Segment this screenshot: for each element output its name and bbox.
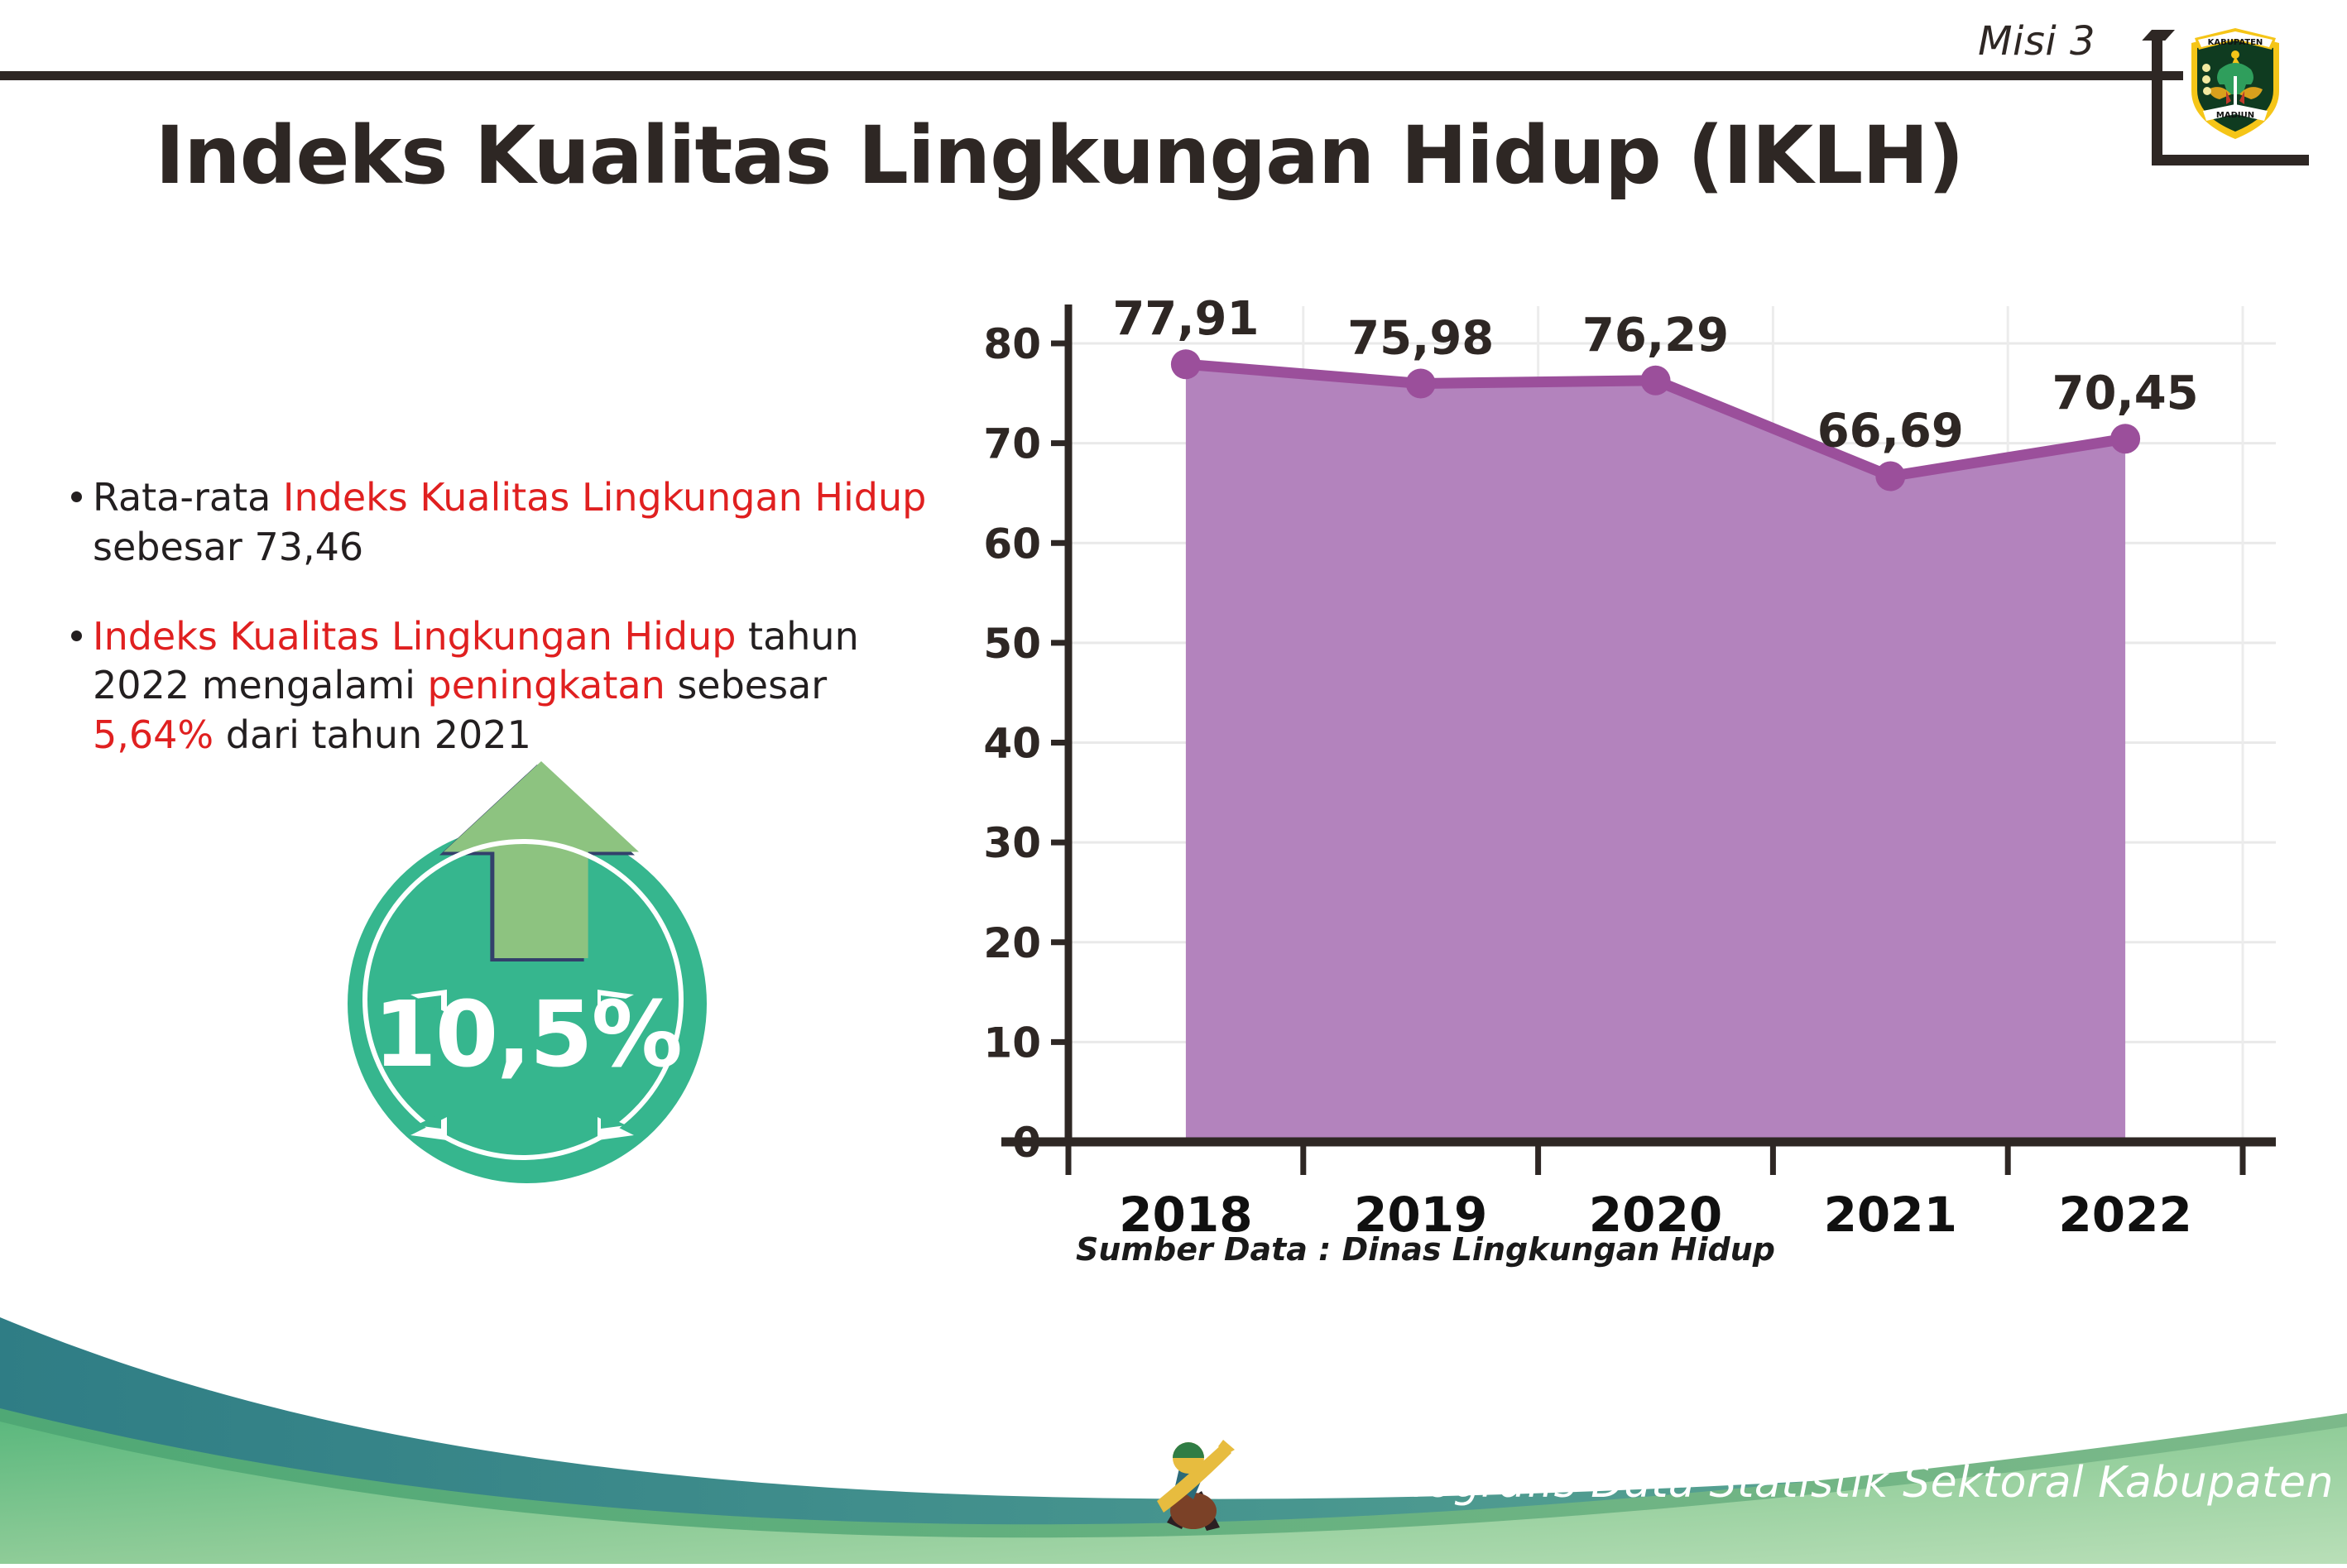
bullet-1-highlight: Indeks Kualitas Lingkungan Hidup: [283, 475, 926, 520]
data-point-label: 66,69: [1817, 405, 1964, 458]
bullet-dot-icon: [71, 631, 82, 641]
bullet-2-highlight-3: 5,64%: [93, 712, 214, 757]
data-point-label: 75,98: [1347, 311, 1494, 365]
y-axis-tick-label: 30: [983, 819, 1041, 867]
bullet-2-part-6: dari tahun 2021: [214, 712, 531, 757]
bullet-2-part-4: sebesar: [665, 663, 827, 707]
data-point-label: 77,91: [1112, 298, 1259, 346]
y-axis-tick-label: 70: [983, 420, 1041, 468]
x-axis-tick-label: 2022: [2058, 1187, 2191, 1233]
bullet-2-highlight-2: peningkatan: [428, 663, 665, 707]
y-axis-tick-label: 60: [983, 520, 1041, 568]
data-point-label: 70,45: [2052, 367, 2199, 420]
list-item: Indeks Kualitas Lingkungan Hidup tahun 2…: [68, 612, 945, 760]
data-point-label: 76,29: [1582, 309, 1729, 362]
badge-tick-bottom-left-inner: [415, 1114, 441, 1129]
bullet-1-part-3: sebesar 73,46: [93, 525, 363, 569]
bullet-2-highlight-1: Indeks Kualitas Lingkungan Hidup: [93, 614, 736, 659]
crest-bottom-banner-text: MADIUN: [2216, 111, 2254, 120]
header-divider-rule: [0, 71, 2183, 80]
chart-area-series: [1186, 364, 2125, 1142]
y-axis-tick-label: 40: [983, 720, 1041, 768]
x-axis-tick-label: 2018: [1119, 1187, 1252, 1233]
bracket-bottom-arm: [2152, 155, 2309, 165]
y-axis-tick-label: 50: [983, 620, 1041, 668]
increase-badge: 10,5%: [331, 761, 753, 1183]
page-title: Indeks Kualitas Lingkungan Hidup (IKLH): [0, 109, 2119, 202]
x-axis-tick-label: 2021: [1824, 1187, 1957, 1233]
badge-percent-value: 10,5%: [348, 981, 707, 1087]
bullet-1-part-1: Rata-rata: [93, 475, 283, 520]
iklh-area-chart: 01020304050607080 20182019202020212022 7…: [952, 298, 2276, 1233]
crest-top-banner-text: KABUPATEN: [2208, 38, 2263, 47]
y-axis-tick-label: 20: [983, 919, 1041, 967]
y-axis-tick-label: 0: [1012, 1119, 1041, 1167]
y-axis-tick-label: 80: [983, 320, 1041, 368]
x-axis-tick-label: 2020: [1589, 1187, 1722, 1233]
bullet-dot-icon: [71, 491, 82, 502]
x-axis-tick-label: 2019: [1354, 1187, 1487, 1233]
y-axis-tick-label: 10: [983, 1019, 1041, 1067]
bracket-vertical-arm: [2152, 30, 2162, 165]
misi-label: Misi 3: [1978, 18, 2095, 65]
chart-x-axis-ticks: 20182019202020212022: [1068, 1142, 2243, 1233]
bullet-list: Rata-rata Indeks Kualitas Lingkungan Hid…: [68, 473, 945, 800]
source-note: Sumber Data : Dinas Lingkungan Hidup: [1076, 1231, 1775, 1268]
kabupaten-madiun-crest-icon: KABUPATEN MADIUN: [2183, 18, 2287, 142]
chart-y-axis-ticks: 01020304050607080: [983, 320, 1068, 1167]
footer-caption: Media Infografis Data Statistik Sektoral…: [1225, 1458, 2347, 1508]
list-item: Rata-rata Indeks Kualitas Lingkungan Hid…: [68, 473, 945, 573]
badge-tick-bottom-right-inner: [601, 1114, 626, 1129]
